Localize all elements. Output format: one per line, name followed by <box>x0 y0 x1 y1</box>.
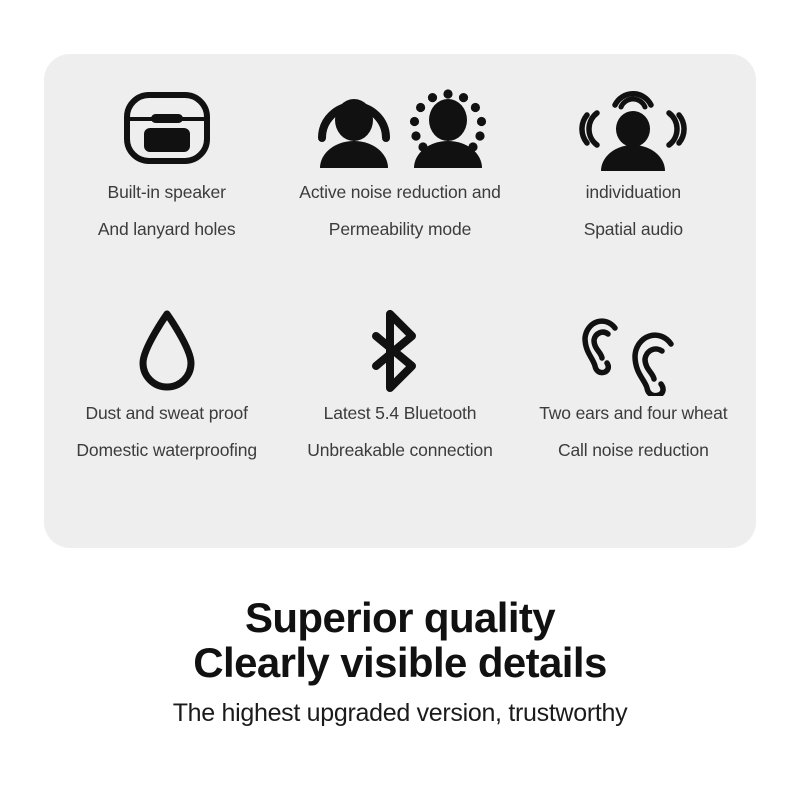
feature-card: Built-in speaker And lanyard holes <box>44 54 756 548</box>
feature-cell-bluetooth: Latest 5.4 Bluetooth Unbreakable connect… <box>283 305 516 530</box>
active-noise-reduction-persons-icon <box>308 80 492 176</box>
spatial-audio-person-icon <box>579 80 687 176</box>
headline-subtitle: The highest upgraded version, trustworth… <box>0 700 800 728</box>
headline-line-1: Superior quality <box>0 596 800 641</box>
feature-label-line2: And lanyard holes <box>98 221 236 239</box>
feature-cell-built-in-speaker: Built-in speaker And lanyard holes <box>50 80 283 305</box>
feature-label-line2: Domestic waterproofing <box>76 442 257 460</box>
feature-cell-noise-reduction: Active noise reduction and Permeability … <box>283 80 516 305</box>
feature-label-line1: individuation <box>586 184 681 202</box>
two-ears-icon <box>577 305 689 397</box>
feature-label-line2: Unbreakable connection <box>307 442 492 460</box>
feature-label-line2: Spatial audio <box>584 221 683 239</box>
feature-label-line1: Dust and sweat proof <box>85 405 247 423</box>
feature-label-line1: Active noise reduction and <box>299 184 500 202</box>
feature-label-line2: Permeability mode <box>329 221 471 239</box>
feature-grid: Built-in speaker And lanyard holes <box>44 54 756 548</box>
feature-label-line1: Built-in speaker <box>108 184 226 202</box>
feature-label-line1: Latest 5.4 Bluetooth <box>324 405 477 423</box>
feature-label-line1: Two ears and four wheat <box>539 405 727 423</box>
bluetooth-icon <box>366 305 434 397</box>
water-droplet-icon <box>136 305 198 397</box>
earbud-charging-case-icon <box>121 80 213 176</box>
promo-page: Built-in speaker And lanyard holes <box>0 0 800 800</box>
feature-label-line2: Call noise reduction <box>558 442 709 460</box>
headline-line-2: Clearly visible details <box>0 641 800 686</box>
feature-cell-waterproof: Dust and sweat proof Domestic waterproof… <box>50 305 283 530</box>
feature-cell-spatial-audio: individuation Spatial audio <box>517 80 750 305</box>
feature-cell-two-ears: Two ears and four wheat Call noise reduc… <box>517 305 750 530</box>
headline-block: Superior quality Clearly visible details… <box>0 596 800 727</box>
